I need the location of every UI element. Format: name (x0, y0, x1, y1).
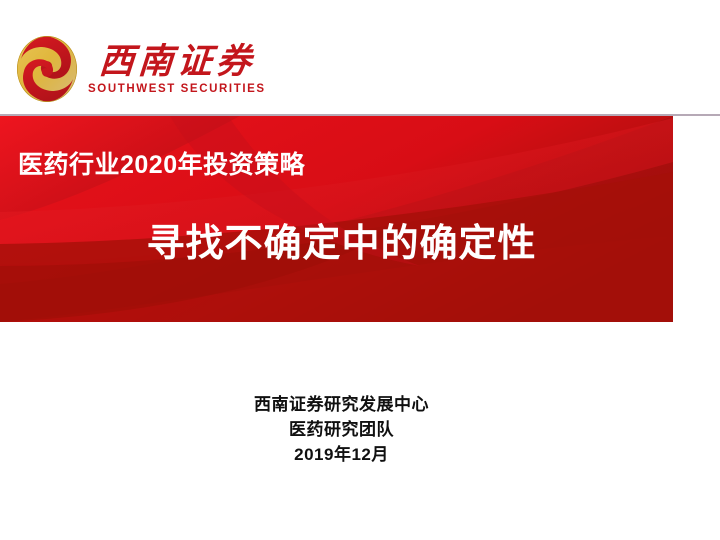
footer-line-date: 2019年12月 (0, 442, 683, 467)
title-banner: 医药行业2020年投资策略 寻找不确定中的确定性 (0, 116, 673, 322)
footer-credits: 西南证券研究发展中心 医药研究团队 2019年12月 (0, 392, 683, 467)
banner-main-headline: 寻找不确定中的确定性 (0, 220, 673, 268)
southwest-securities-swirl-logo-icon (14, 34, 80, 104)
presentation-title-slide: 西南证券 SOUTHWEST SECURITIES (0, 0, 720, 540)
banner-subtitle-strategy: 医药行业2020年投资策略 (18, 149, 305, 181)
logo-english-name: SOUTHWEST SECURITIES (88, 83, 266, 96)
slide-header: 西南证券 SOUTHWEST SECURITIES (0, 0, 720, 116)
company-logo: 西南证券 SOUTHWEST SECURITIES (14, 34, 266, 104)
logo-chinese-name: 西南证券 (97, 43, 256, 81)
footer-line-research-center: 西南证券研究发展中心 (0, 392, 683, 417)
banner-background-graphic (0, 116, 673, 322)
logo-wordmark: 西南证券 SOUTHWEST SECURITIES (88, 43, 266, 96)
footer-line-team: 医药研究团队 (0, 417, 683, 442)
